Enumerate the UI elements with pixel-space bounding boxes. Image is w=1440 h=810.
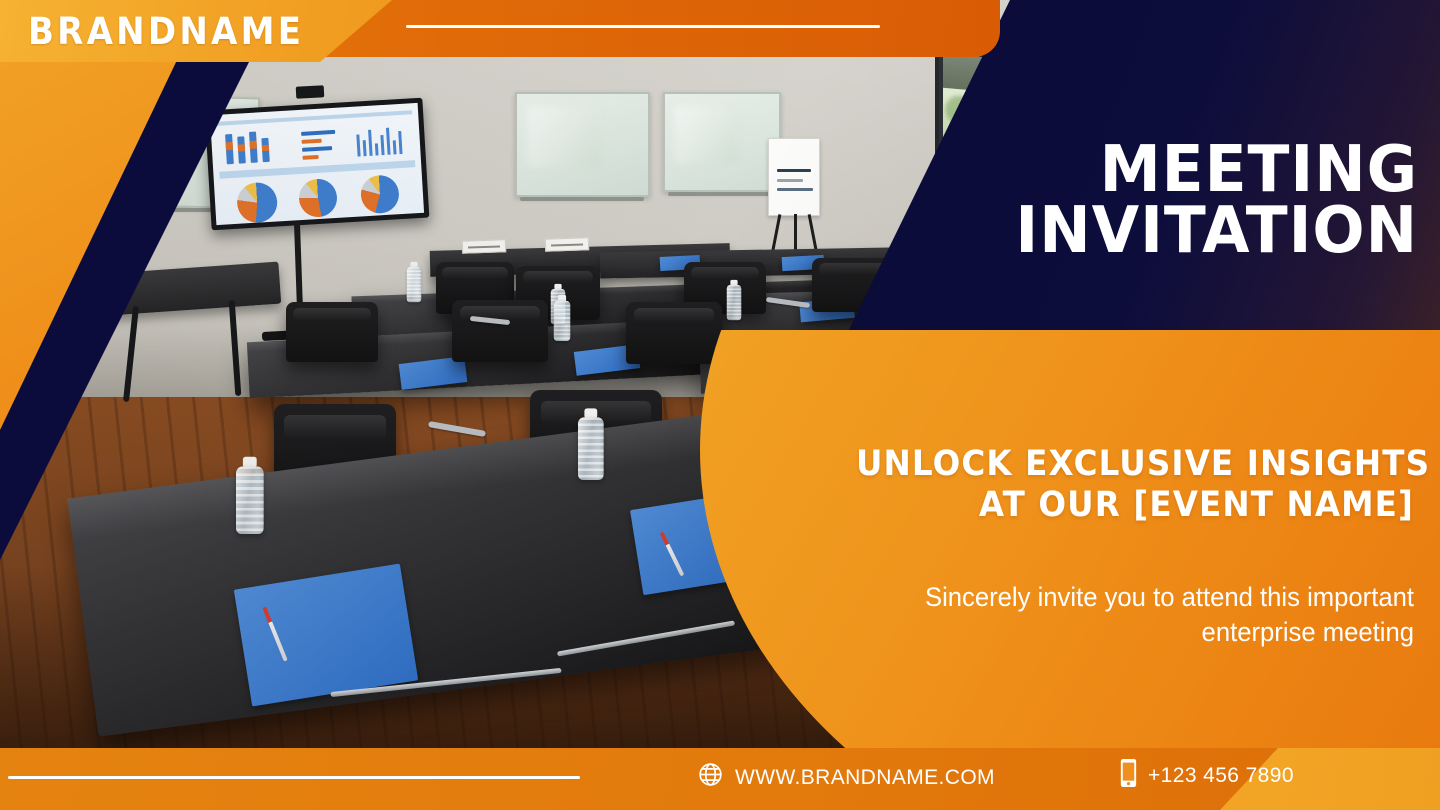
phone-contact[interactable]: +123 456 7890 xyxy=(1120,758,1294,794)
whiteboard-tray xyxy=(520,197,644,201)
headline-line-1: UNLOCK EXCLUSIVE INSIGHTS xyxy=(856,444,1414,485)
name-card xyxy=(462,239,506,254)
dashboard-bar-chart xyxy=(225,130,270,164)
mobile-phone-icon xyxy=(1120,758,1137,794)
dashboard-mini-bars xyxy=(356,126,403,157)
dashboard-display xyxy=(210,103,424,225)
water-bottle xyxy=(727,280,741,320)
website-text: WWW.BRANDNAME.COM xyxy=(735,766,995,790)
whiteboard xyxy=(515,92,650,197)
whiteboard xyxy=(663,92,781,192)
title-line-2: INVITATION xyxy=(842,201,1418,262)
title-line-1: MEETING xyxy=(842,140,1418,201)
website-contact[interactable]: WWW.BRANDNAME.COM xyxy=(697,761,995,794)
dashboard-hbar xyxy=(302,155,318,160)
subtitle-line-2: enterprise meeting xyxy=(825,615,1414,650)
page-title: MEETING INVITATION xyxy=(842,140,1418,263)
dashboard-header-band xyxy=(217,110,412,126)
dashboard-hbar xyxy=(301,130,335,136)
water-bottle xyxy=(407,262,421,302)
bottom-bar-rule xyxy=(8,776,580,779)
flipchart-line xyxy=(777,169,811,172)
whiteboard-tray xyxy=(668,192,776,196)
dashboard-hbar xyxy=(302,139,322,144)
phone-text: +123 456 7890 xyxy=(1148,764,1294,788)
water-bottle xyxy=(236,457,264,534)
name-card xyxy=(545,237,589,252)
subtitle: Sincerely invite you to attend this impo… xyxy=(825,580,1414,649)
dashboard-hbar xyxy=(302,146,332,152)
flipchart-board xyxy=(768,138,820,216)
globe-icon xyxy=(697,761,724,794)
flipchart-line xyxy=(777,179,803,182)
dashboard-pie-chart xyxy=(360,174,400,214)
dashboard-pie-chart xyxy=(236,181,278,223)
top-bar-rule xyxy=(406,25,880,28)
headline: UNLOCK EXCLUSIVE INSIGHTS AT OUR [EVENT … xyxy=(856,444,1414,527)
meeting-invitation-poster: BRANDNAME MEETING INVITATION UNLOCK EXCL… xyxy=(0,0,1440,810)
brand-name: BRANDNAME xyxy=(28,10,304,53)
water-bottle xyxy=(554,295,570,341)
chair xyxy=(286,302,378,362)
presentation-screen xyxy=(205,98,430,231)
headline-line-2: AT OUR [EVENT NAME] xyxy=(856,485,1414,526)
chair xyxy=(626,302,722,364)
chair xyxy=(452,300,548,362)
subtitle-line-1: Sincerely invite you to attend this impo… xyxy=(825,580,1414,615)
screen-camera xyxy=(296,85,325,98)
water-bottle xyxy=(578,408,604,480)
dashboard-pie-chart xyxy=(298,178,338,218)
flipchart-line xyxy=(777,188,813,191)
